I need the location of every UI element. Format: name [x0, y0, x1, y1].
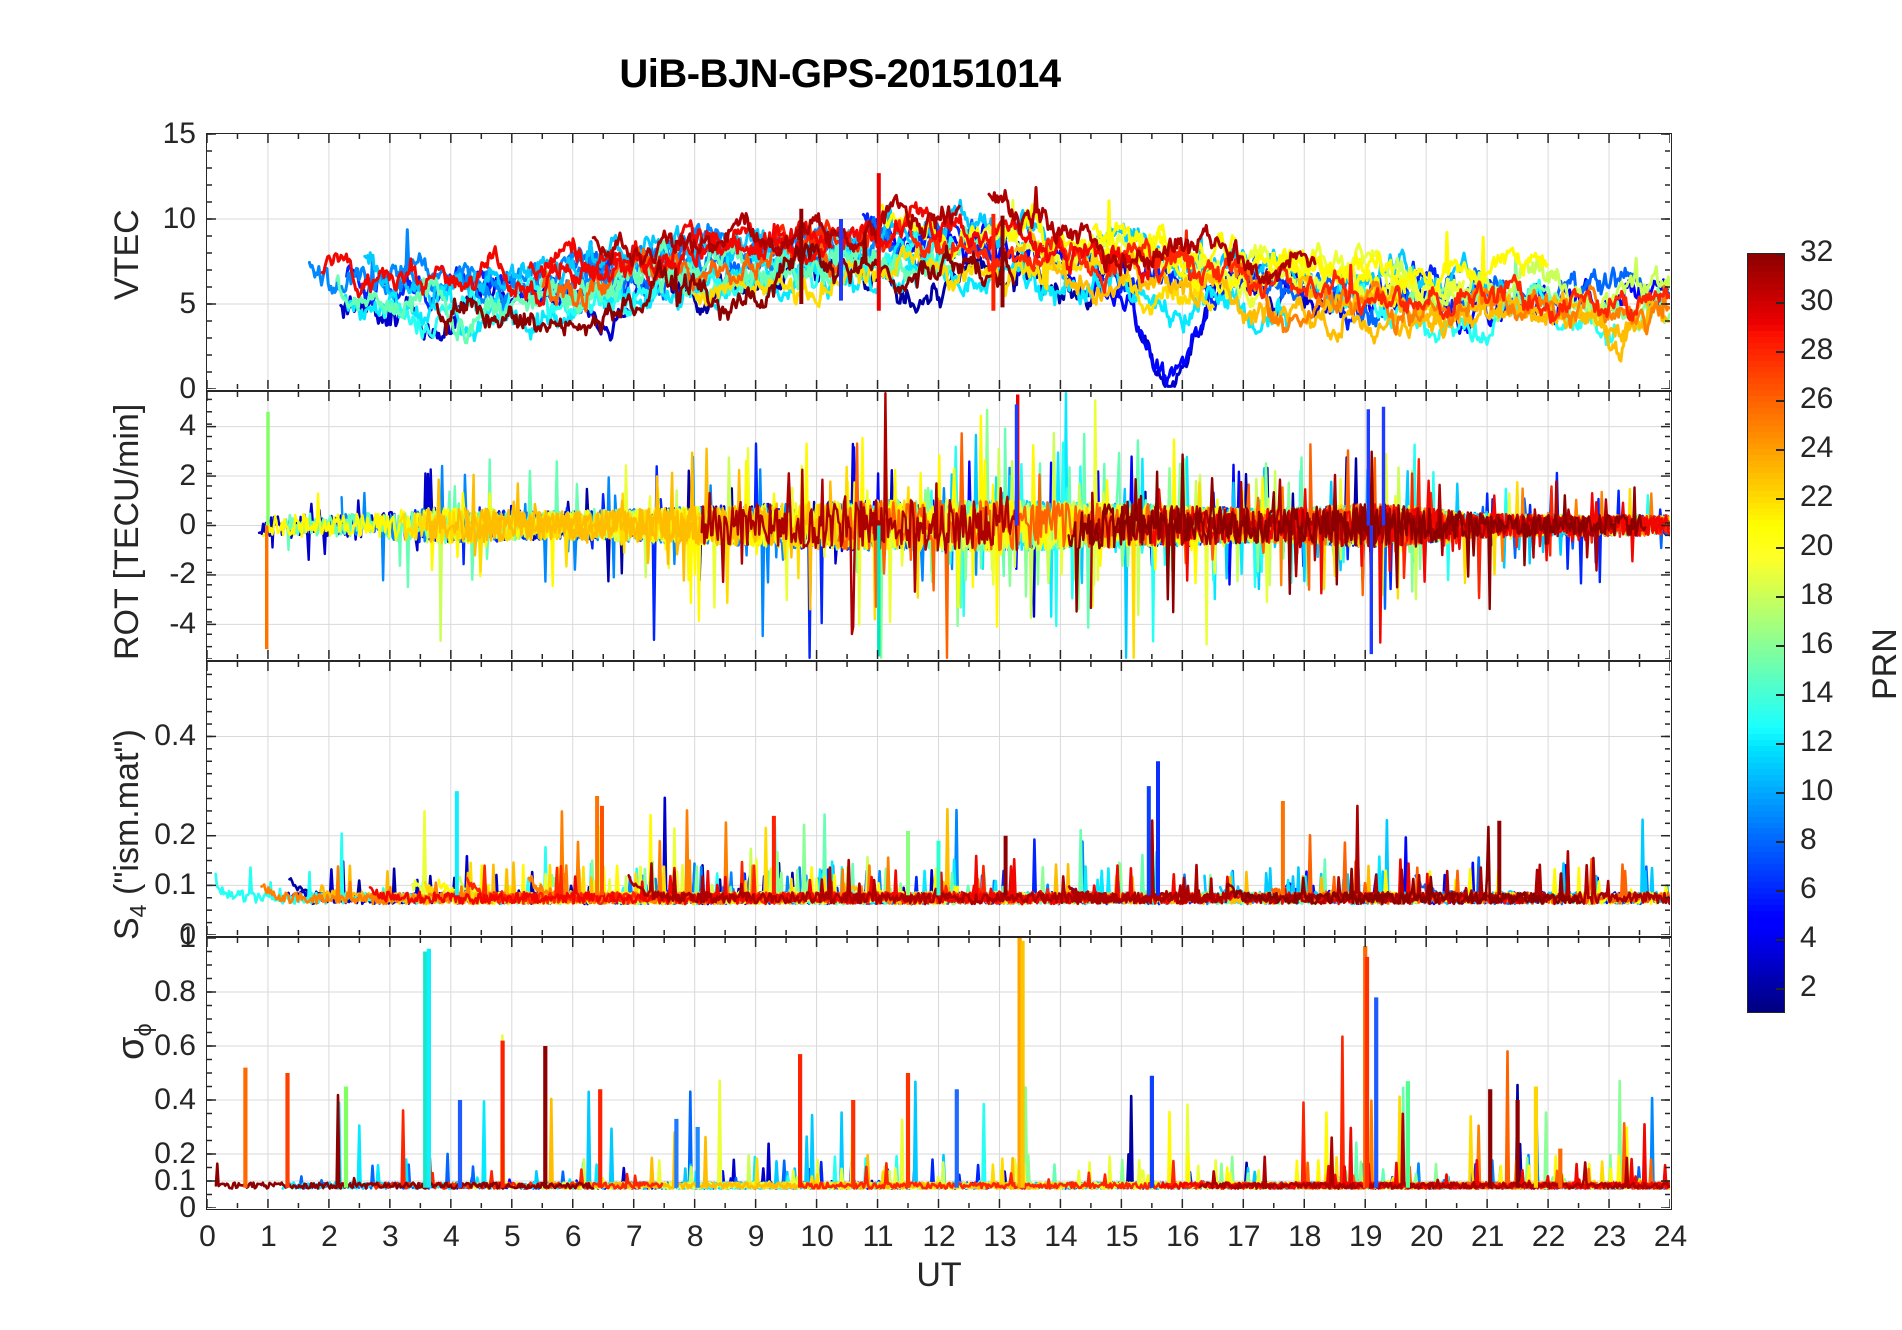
traces-vtec: [309, 173, 1670, 386]
colorbar-tick-26: 26: [1800, 384, 1833, 414]
data-trace: [1254, 1113, 1670, 1188]
figure-title: UiB-BJN-GPS-20151014: [0, 52, 1680, 97]
colorbar-tickmark: [1776, 302, 1785, 304]
ytick-s4-0p2: 0.2: [30, 820, 196, 850]
ytick-vtec-15: 15: [30, 119, 196, 149]
data-trace: [1012, 1088, 1548, 1189]
ytick-sigmaphi-1: 1: [30, 923, 196, 953]
colorbar-tickmark: [1776, 792, 1785, 794]
colorbar-label-prn: PRN: [1868, 628, 1902, 700]
panel-sigmaphi: [206, 937, 1672, 1210]
colorbar-tickmark: [1776, 841, 1785, 843]
ytick-rot--2: -2: [30, 559, 196, 589]
xtick-24: 24: [1631, 1222, 1711, 1252]
colorbar-tick-14: 14: [1800, 678, 1833, 708]
colorbar-tickmark: [1776, 498, 1785, 500]
axis-label-ut: UT: [206, 1258, 1672, 1292]
colorbar-tick-2: 2: [1800, 972, 1817, 1002]
colorbar-tick-18: 18: [1800, 580, 1833, 610]
panel-s4: [206, 661, 1672, 937]
colorbar-tick-28: 28: [1800, 335, 1833, 365]
data-trace: [787, 1105, 1377, 1189]
colorbar-tick-6: 6: [1800, 874, 1817, 904]
ytick-rot--4: -4: [30, 609, 196, 639]
plot-area-sigmaphi: [207, 938, 1670, 1208]
colorbar-tickmark: [1776, 645, 1785, 647]
ytick-vtec-10: 10: [30, 204, 196, 234]
ytick-sigmaphi-0: 0: [30, 1193, 196, 1223]
colorbar-tickmark: [1776, 596, 1785, 598]
ytick-rot-4: 4: [30, 411, 196, 441]
figure-canvas: UiB-BJN-GPS-20151014 VTEC ROT [TECU/min]…: [0, 0, 1902, 1330]
traces-rot: [259, 393, 1670, 658]
ytick-s4-0p1: 0.1: [30, 870, 196, 900]
colorbar-tick-16: 16: [1800, 629, 1833, 659]
colorbar-tickmark: [1776, 939, 1785, 941]
plot-area-s4: [207, 662, 1670, 935]
ytick-sigmaphi-0p8: 0.8: [30, 977, 196, 1007]
ytick-vtec-0: 0: [30, 374, 196, 404]
colorbar-tickmark: [1776, 988, 1785, 990]
colorbar-tickmark: [1776, 351, 1785, 353]
data-trace: [531, 1092, 799, 1189]
colorbar-tickmark: [1776, 400, 1785, 402]
colorbar-tick-24: 24: [1800, 433, 1833, 463]
colorbar-tickmark: [1776, 547, 1785, 549]
panel-rot: [206, 391, 1672, 661]
ytick-vtec-5: 5: [30, 289, 196, 319]
data-trace: [1008, 1081, 1669, 1189]
data-trace: [841, 809, 1414, 904]
colorbar-tick-32: 32: [1800, 237, 1833, 267]
colorbar-tick-22: 22: [1800, 482, 1833, 512]
colorbar-tickmark: [1776, 890, 1785, 892]
ytick-sigmaphi-0p2: 0.2: [30, 1139, 196, 1169]
colorbar-tick-30: 30: [1800, 286, 1833, 316]
ytick-sigmaphi-0p4: 0.4: [30, 1085, 196, 1115]
colorbar-tickmark: [1776, 694, 1785, 696]
colorbar-tick-12: 12: [1800, 727, 1833, 757]
ytick-rot-0: 0: [30, 510, 196, 540]
colorbar-tick-4: 4: [1800, 923, 1817, 953]
colorbar-segment: [1748, 1006, 1784, 1012]
ytick-s4-0p4: 0.4: [30, 721, 196, 751]
plot-area-rot: [207, 392, 1670, 659]
plot-area-vtec: [207, 134, 1670, 389]
traces-sigmaphi: [216, 938, 1670, 1189]
colorbar-prn[interactable]: [1747, 253, 1785, 1013]
ytick-sigmaphi-0p6: 0.6: [30, 1031, 196, 1061]
traces-s4: [216, 761, 1670, 904]
panel-vtec: [206, 133, 1672, 391]
ytick-sigmaphi-0p1: 0.1: [30, 1166, 196, 1196]
colorbar-tickmark: [1776, 449, 1785, 451]
data-trace: [372, 1110, 662, 1188]
colorbar-tick-8: 8: [1800, 825, 1817, 855]
colorbar-tickmark: [1776, 253, 1785, 255]
ytick-rot-2: 2: [30, 461, 196, 491]
colorbar-tick-10: 10: [1800, 776, 1833, 806]
colorbar-tickmark: [1776, 743, 1785, 745]
colorbar-tick-20: 20: [1800, 531, 1833, 561]
